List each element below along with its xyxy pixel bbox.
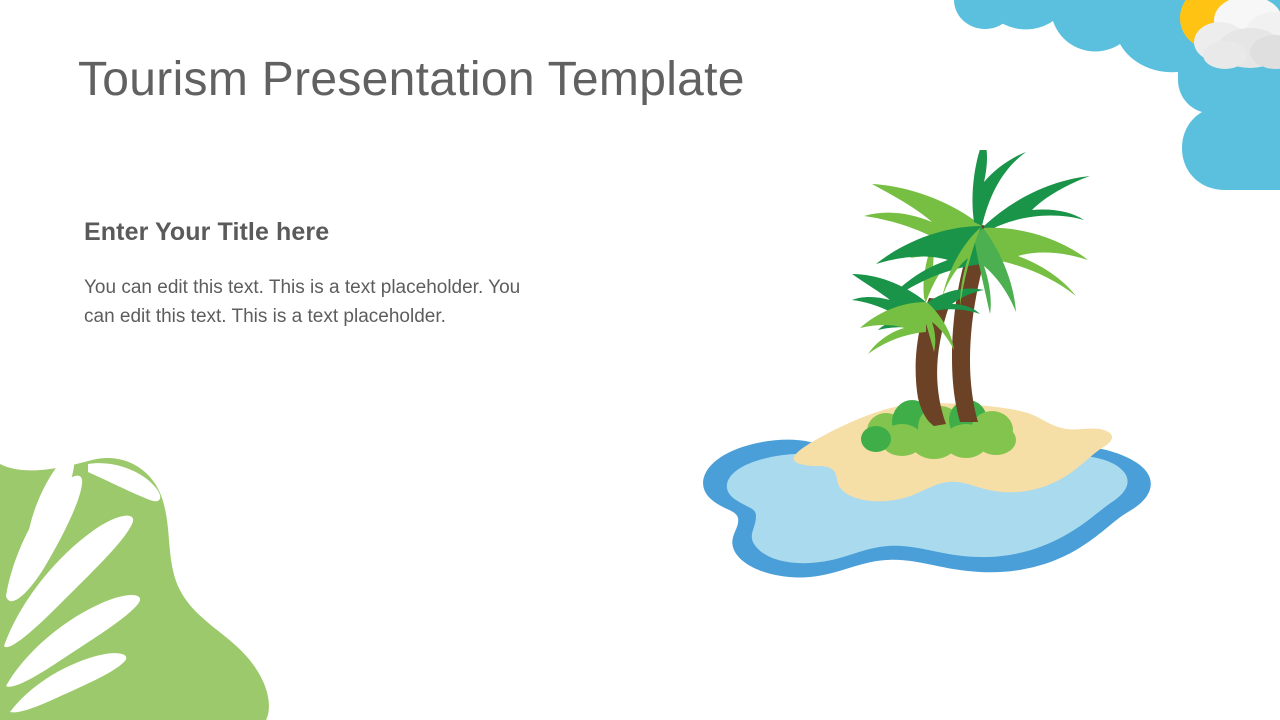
leaf-vein-cutouts: [4, 456, 160, 712]
leaf-body-shape: [0, 458, 269, 720]
sun-icon: [1180, 0, 1242, 49]
page-title: Tourism Presentation Template: [78, 52, 745, 107]
white-cloud-icon: [1194, 0, 1280, 69]
text-panel: Enter Your Title here You can edit this …: [84, 218, 534, 331]
monstera-leaf-decoration: [0, 450, 280, 720]
section-subtitle: Enter Your Title here: [84, 218, 534, 247]
tropical-island-illustration: [690, 150, 1170, 580]
presentation-slide: Tourism Presentation Template Enter Your…: [0, 0, 1280, 720]
body-placeholder-text: You can edit this text. This is a text p…: [84, 273, 524, 331]
